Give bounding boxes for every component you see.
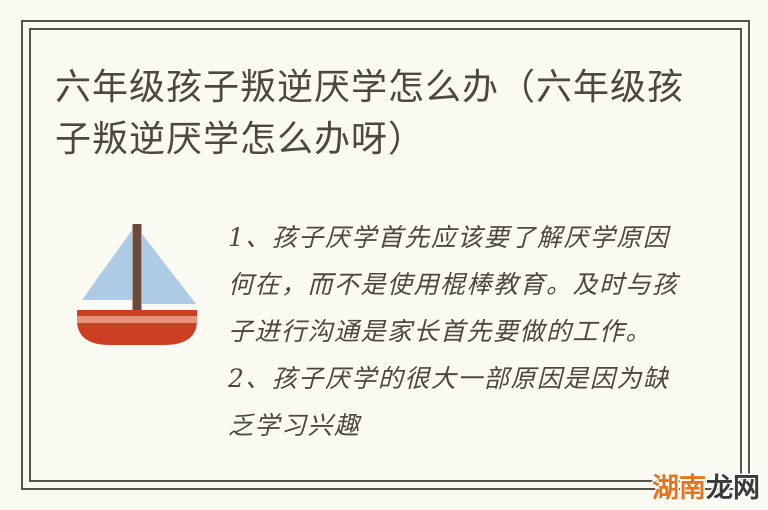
article-body: 1、孩子厌学首先应该要了解厌学原因何在，而不是使用棍棒教育。及时与孩子进行沟通是… bbox=[228, 214, 694, 449]
site-watermark: 湖南龙网 bbox=[652, 475, 760, 502]
sailboat-icon bbox=[72, 212, 202, 347]
watermark-text-secondary: 龙网 bbox=[706, 473, 760, 504]
article-content: 1、孩子厌学首先应该要了解厌学原因何在，而不是使用棍棒教育。及时与孩子进行沟通是… bbox=[40, 200, 710, 470]
article-page: 六年级孩子叛逆厌学怎么办（六年级孩子叛逆厌学怎么办呀） 1、孩子厌学首先应该要了… bbox=[0, 0, 768, 510]
page-title: 六年级孩子叛逆厌学怎么办（六年级孩子叛逆厌学怎么办呀） bbox=[55, 62, 685, 166]
watermark-text-primary: 湖南 bbox=[652, 473, 706, 504]
